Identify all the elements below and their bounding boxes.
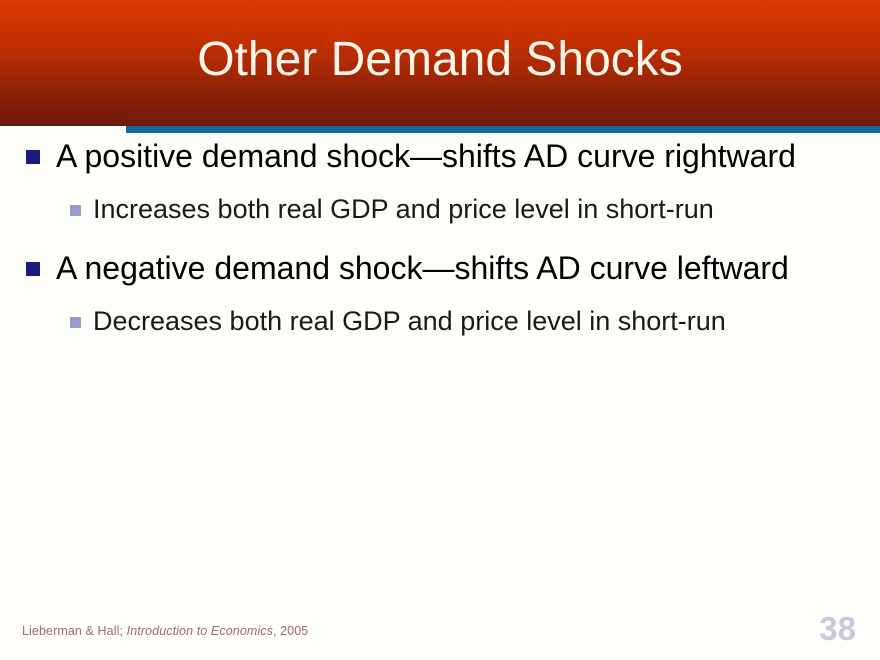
spacer bbox=[0, 230, 880, 245]
sub-bullet-square-icon bbox=[70, 205, 81, 216]
presentation-slide: Other Demand Shocks A positive demand sh… bbox=[0, 0, 880, 660]
bullet-text: A negative demand shock—shifts AD curve … bbox=[56, 250, 789, 286]
bullet-square-icon bbox=[26, 150, 40, 164]
citation-book-title: Introduction to Economics bbox=[127, 624, 273, 638]
slide-body: A positive demand shock—shifts AD curve … bbox=[0, 133, 880, 342]
bullet-item-level2: Decreases both real GDP and price level … bbox=[0, 301, 880, 342]
citation-authors: Lieberman & Hall; bbox=[22, 624, 127, 638]
bullet-item-level1: A positive demand shock—shifts AD curve … bbox=[0, 133, 880, 179]
bullet-square-icon bbox=[26, 262, 40, 276]
spacer bbox=[0, 291, 880, 301]
slide-page-number: 38 bbox=[819, 612, 856, 645]
citation-year: , 2005 bbox=[273, 624, 308, 638]
bullet-text: Decreases both real GDP and price level … bbox=[93, 306, 726, 336]
bullet-item-level2: Increases both real GDP and price level … bbox=[0, 189, 880, 230]
source-citation: Lieberman & Hall; Introduction to Econom… bbox=[22, 624, 308, 638]
bullet-text: Increases both real GDP and price level … bbox=[93, 194, 714, 224]
title-accent-bar bbox=[126, 126, 880, 133]
sub-bullet-square-icon bbox=[70, 317, 81, 328]
bullet-item-level1: A negative demand shock—shifts AD curve … bbox=[0, 245, 880, 291]
bullet-text: A positive demand shock—shifts AD curve … bbox=[56, 138, 796, 174]
slide-title: Other Demand Shocks bbox=[0, 0, 880, 126]
title-banner: Other Demand Shocks bbox=[0, 0, 880, 126]
spacer bbox=[0, 179, 880, 189]
